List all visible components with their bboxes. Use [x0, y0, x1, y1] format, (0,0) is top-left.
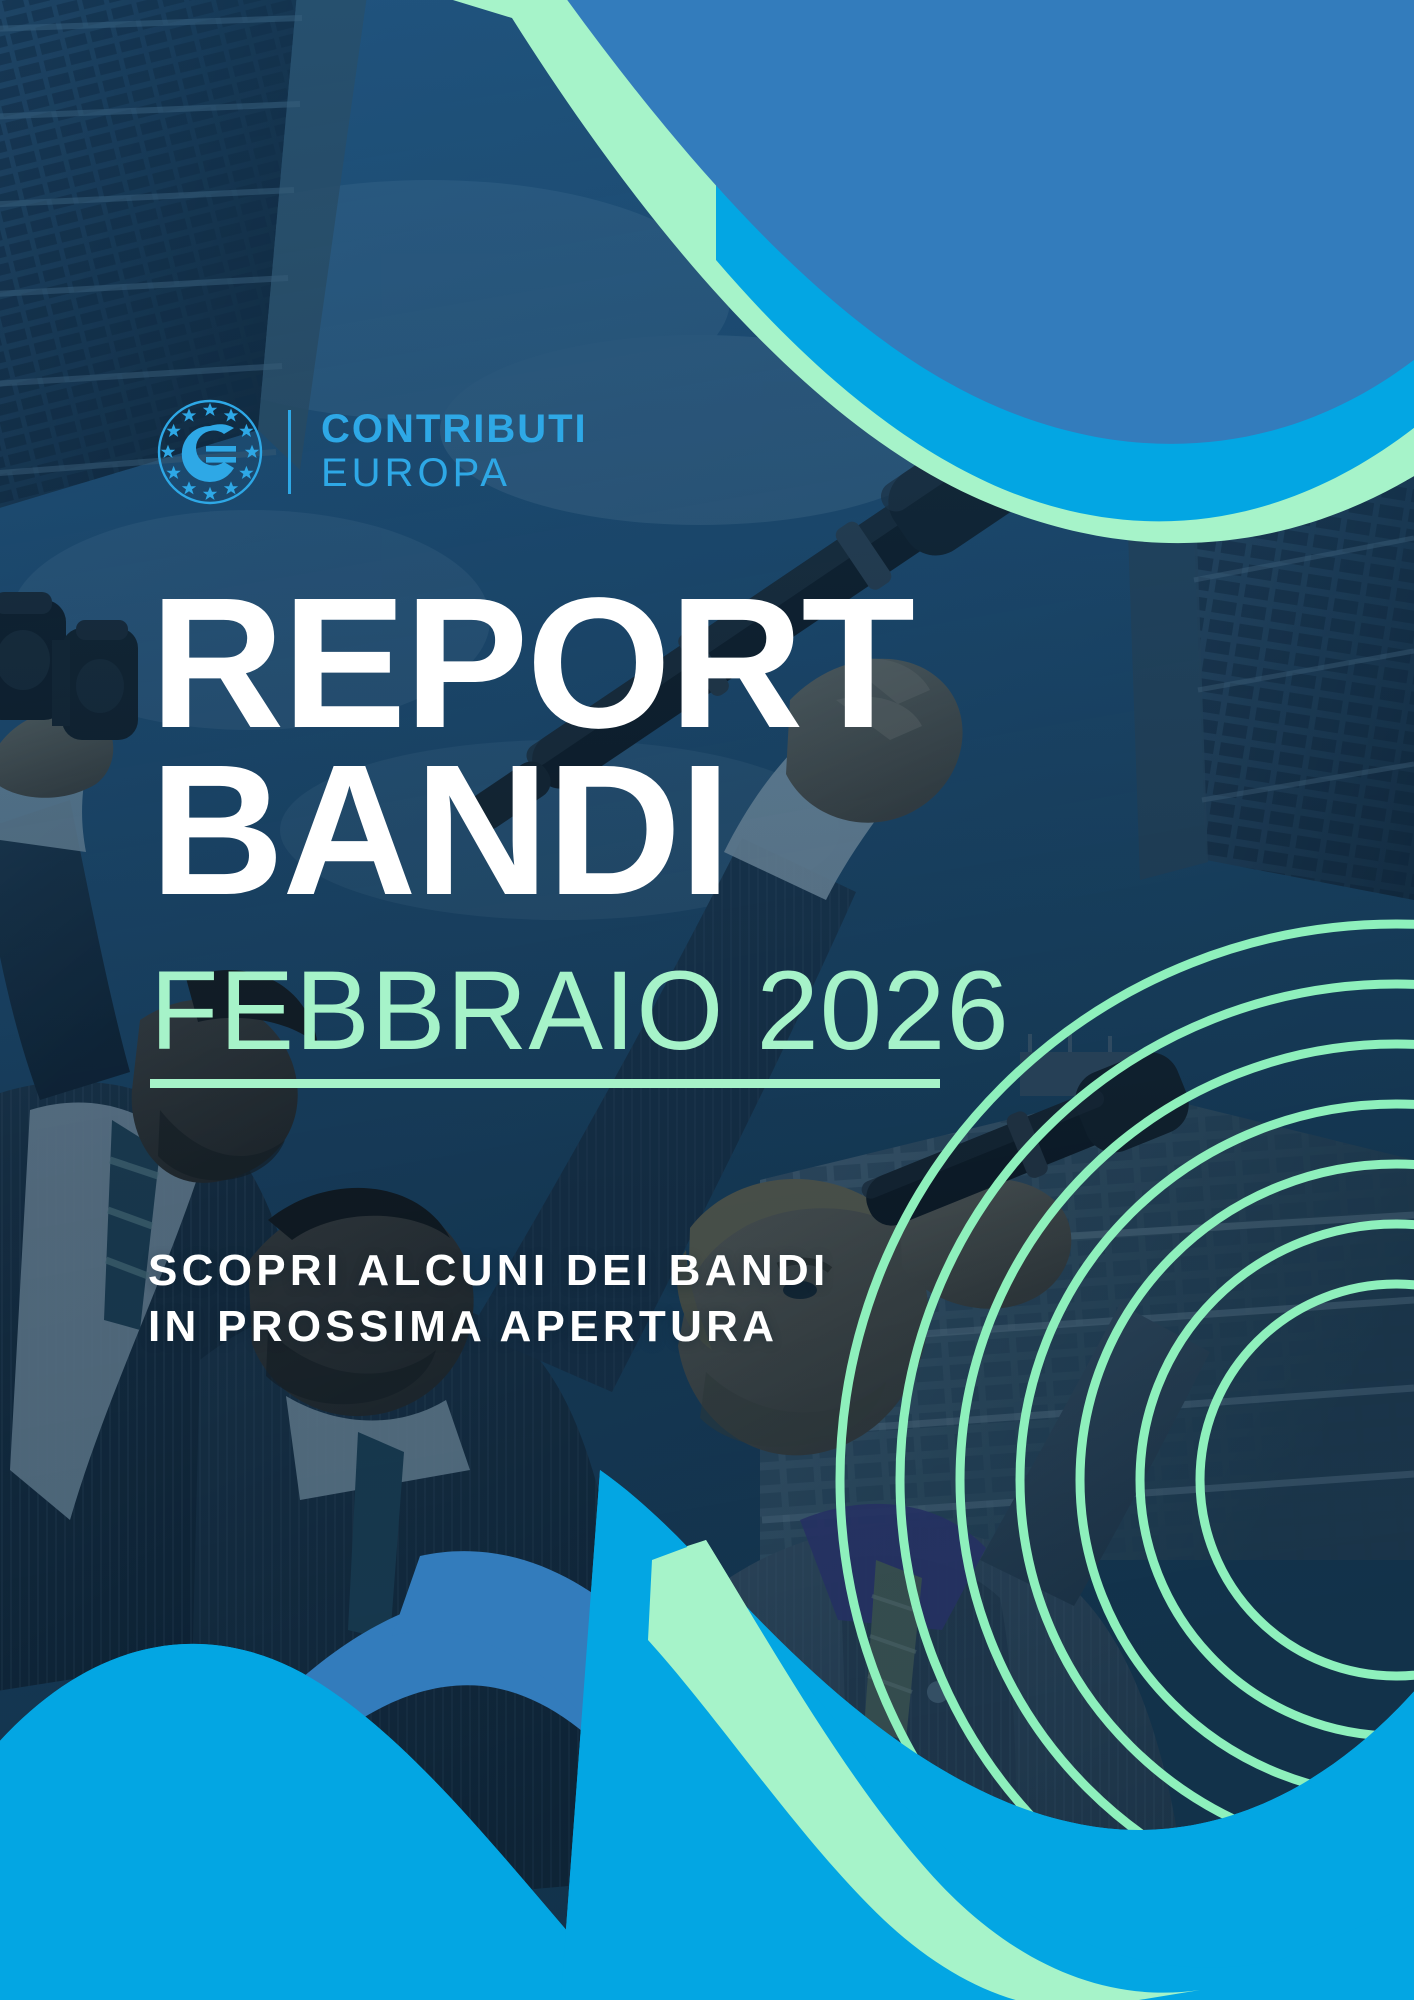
- standfirst-line-2: IN PROSSIMA APERTURA: [148, 1299, 830, 1355]
- title-line-2: BANDI: [150, 747, 913, 914]
- logo-divider: [288, 410, 291, 494]
- report-cover-page: CONTRIBUTI EUROPA REPORT BANDI FEBBRAIO …: [0, 0, 1414, 2000]
- logo-wordmark: CONTRIBUTI EUROPA: [321, 409, 588, 495]
- logo-word-contributi: CONTRIBUTI: [321, 409, 588, 450]
- report-period: FEBBRAIO 2026: [150, 955, 1010, 1088]
- eu-euro-stars-circle-icon: [156, 398, 264, 506]
- brand-logo[interactable]: CONTRIBUTI EUROPA: [156, 398, 588, 506]
- page-title: REPORT BANDI: [150, 580, 913, 915]
- title-line-1: REPORT: [150, 580, 913, 747]
- cover-content: CONTRIBUTI EUROPA REPORT BANDI FEBBRAIO …: [0, 0, 1414, 2000]
- cover-standfirst: SCOPRI ALCUNI DEI BANDI IN PROSSIMA APER…: [148, 1243, 830, 1356]
- standfirst-line-1: SCOPRI ALCUNI DEI BANDI: [148, 1243, 830, 1299]
- report-period-underline: [150, 1079, 940, 1088]
- report-period-label: FEBBRAIO 2026: [150, 955, 1010, 1067]
- logo-word-europa: EUROPA: [321, 452, 588, 495]
